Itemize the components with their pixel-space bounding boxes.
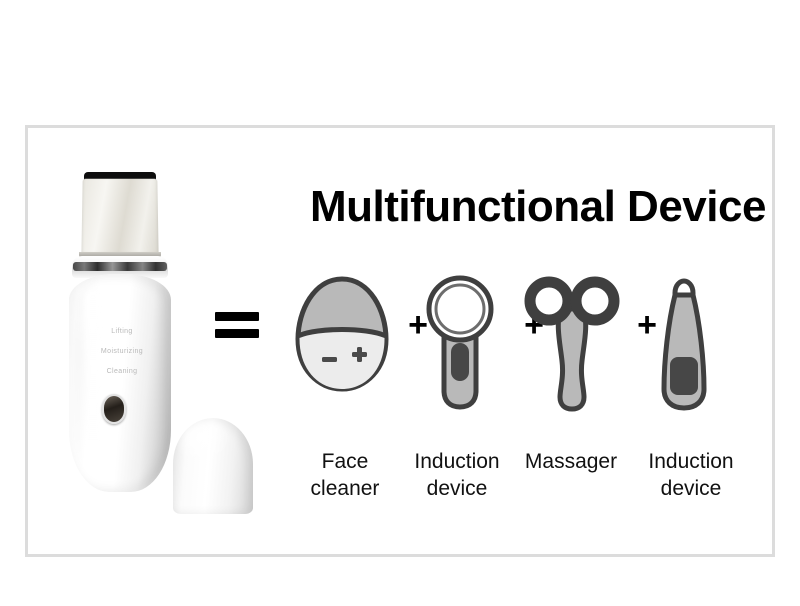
caption-induction-device-2: Induction device (629, 448, 753, 502)
caption-line-2: cleaner (283, 475, 407, 502)
mode-label-list: Lifting Moisturizing Cleaning (83, 322, 161, 382)
power-button (102, 394, 126, 424)
caption-massager: Massager (509, 448, 633, 475)
icon-induction-wand (625, 265, 743, 425)
scrubber-blade (81, 179, 158, 257)
caption-line-1: Massager (509, 448, 633, 475)
caption-face-cleaner: Face cleaner (283, 448, 407, 502)
mode-label-lifting: Lifting (83, 322, 161, 342)
icon-induction-device (401, 265, 519, 425)
massager-icon (516, 265, 628, 415)
chrome-band (73, 262, 167, 271)
caption-induction-device-1: Induction device (395, 448, 519, 502)
caption-line-1: Face (283, 448, 407, 475)
protective-cap (173, 418, 253, 514)
page-title: Multifunctional Device (310, 182, 766, 232)
induction-wand-icon (628, 265, 740, 415)
equals-icon (215, 312, 259, 338)
equation-row: + + + (205, 265, 770, 425)
caption-line-1: Induction (395, 448, 519, 475)
mode-label-cleaning: Cleaning (83, 362, 161, 382)
induction-device-icon (404, 265, 516, 415)
caption-line-1: Induction (629, 448, 753, 475)
icon-face-cleaner (283, 265, 401, 425)
face-cleaner-icon (286, 265, 398, 415)
icon-massager (513, 265, 631, 425)
mode-label-moisturizing: Moisturizing (83, 342, 161, 362)
caption-line-2: device (395, 475, 519, 502)
caption-line-2: device (629, 475, 753, 502)
caption-row: Face cleaner Induction device Massager I… (283, 448, 773, 508)
image-canvas: Lifting Moisturizing Cleaning Multifunct… (0, 0, 800, 606)
